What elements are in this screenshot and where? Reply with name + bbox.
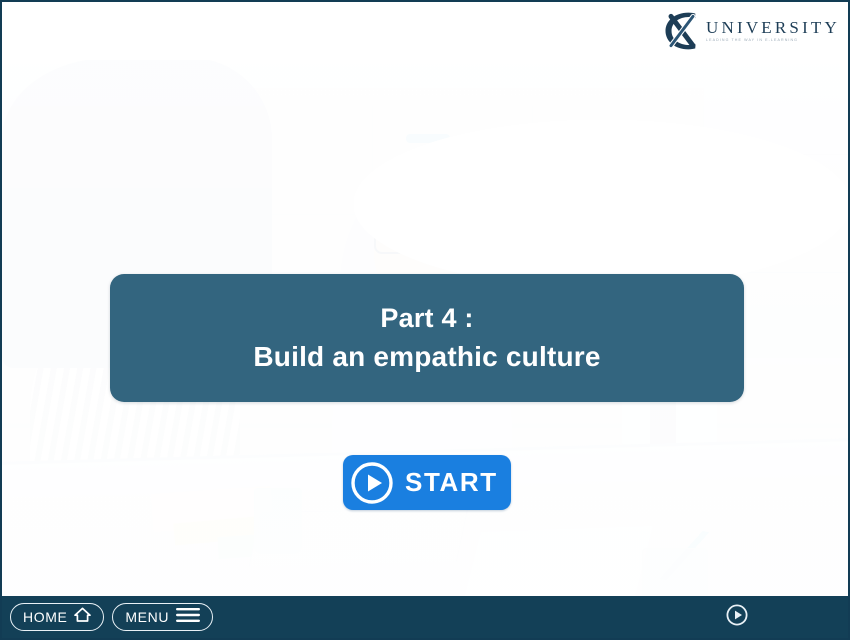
start-button[interactable]: START [343, 455, 511, 510]
next-button[interactable] [724, 604, 750, 630]
title-card: Part 4 : Build an empathic culture [110, 274, 744, 402]
header-bar: UNIVERSITY LEADING THE WAY IN E-LEARNING [2, 2, 848, 60]
menu-button-label: MENU [125, 609, 169, 625]
x-monogram-icon [660, 9, 704, 53]
logo-tagline: LEADING THE WAY IN E-LEARNING [706, 39, 840, 43]
title-subject-label: Build an empathic culture [253, 340, 600, 373]
menu-button[interactable]: MENU [112, 603, 213, 631]
hamburger-icon [176, 607, 200, 628]
house-icon [74, 607, 91, 627]
play-circle-icon [343, 455, 401, 510]
logo-name: UNIVERSITY [706, 19, 840, 36]
footer-bar: HOME MENU [2, 596, 848, 638]
slide-root: UNIVERSITY LEADING THE WAY IN E-LEARNING… [0, 0, 850, 640]
play-circle-icon [725, 603, 749, 632]
start-button-label: START [401, 467, 498, 498]
title-part-label: Part 4 : [380, 303, 473, 335]
brand-logo: UNIVERSITY LEADING THE WAY IN E-LEARNING [660, 8, 840, 54]
home-button-label: HOME [23, 609, 67, 625]
home-button[interactable]: HOME [10, 603, 104, 631]
